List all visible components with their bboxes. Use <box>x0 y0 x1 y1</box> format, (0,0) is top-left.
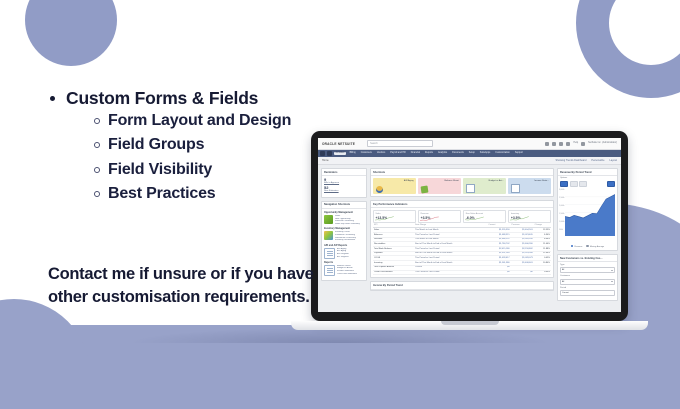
revenue-trend-title: Revenue By Period Trend <box>558 169 617 176</box>
y-tick-label: 2,000k <box>559 205 564 207</box>
kpi-card[interactable]: Inventory +3.5% <box>508 210 551 223</box>
shortcut-group-title[interactable]: Opportunity Management <box>324 211 364 214</box>
netsuite-nav-bar[interactable]: Activities Billing Customers Vendors Pay… <box>318 150 621 157</box>
bullet-sub-label: Best Practices <box>108 185 216 202</box>
shortcut-group: Opportunity Management Sales New Opportu… <box>324 211 364 225</box>
page-icon <box>511 184 520 193</box>
shortcut-group-row: Sales New Opportunity Forecast Processin… <box>324 215 364 225</box>
bullet-sub-label: Form Layout and Design <box>108 112 291 129</box>
kpi-body: Sales +13.5% Revenue +3.5% <box>371 208 553 277</box>
y-tick-label: 1,000k <box>559 221 564 223</box>
nav-tab-5[interactable]: Financial <box>409 152 421 155</box>
income-trend-portlet: Income By Period Trend <box>370 281 554 290</box>
shortcut-links: A/R Aging A/P Aging A/R Register A/P Reg… <box>337 248 349 258</box>
page-icon <box>466 184 475 193</box>
chart-type-area-button[interactable] <box>560 181 568 187</box>
chart-legend: Revenue Moving Average <box>558 244 617 250</box>
y-tick-label: 1,500k <box>559 213 564 215</box>
shortcut-cards-body: A/R Aging Balance Sheet Budget vs Act... <box>371 176 553 196</box>
kpi-table-body: SalesThis Month to Last Month$1,595,390$… <box>373 228 551 275</box>
bullet-sub-label: Field Visibility <box>108 161 212 178</box>
bullet-item-sub: Form Layout and Design <box>94 109 348 133</box>
global-search-input[interactable]: Search <box>367 140 433 147</box>
laptop-mockup: ORACLE NETSUITE Search Help NetSuite Inc… <box>311 131 648 330</box>
shortcut-group-row: Inventory Count Fulfilment Processing Wa… <box>324 231 364 241</box>
search-icon[interactable] <box>545 142 549 146</box>
shortcut-card-label: A/R Aging <box>404 180 414 183</box>
legend-entry-revenue: Revenue <box>571 245 583 248</box>
pencil-icon <box>420 185 428 193</box>
shortcut-link[interactable]: A/P Register <box>337 256 349 259</box>
kpi-card[interactable]: New Sales Account -6.0% <box>463 210 506 223</box>
kpi-portlet: Key Performance Indicators Sales +13.5% <box>370 200 554 278</box>
shortcut-card-income-statement[interactable]: Income State... <box>508 178 551 194</box>
laptop-base <box>291 321 648 330</box>
shortcut-cards: A/R Aging Balance Sheet Budget vs Act... <box>373 178 551 194</box>
table-row[interactable]: Credit Card BalanceThis Period vs Last P… <box>373 270 551 275</box>
y-tick-label: 2,500k <box>559 197 564 199</box>
dashboard-right-column: Revenue By Period Trend Options 3,000k 2… <box>557 168 618 301</box>
shortcut-card-budget-vs-actual[interactable]: Budget vs Act... <box>463 178 506 194</box>
laptop-screen: ORACLE NETSUITE Search Help NetSuite Inc… <box>318 138 621 312</box>
shortcut-link[interactable]: Inventory Revaluation <box>335 239 356 242</box>
shortcut-group-title[interactable]: Inventory Management <box>324 227 364 230</box>
shortcuts-portlet-title: Shortcuts <box>371 169 553 176</box>
multicolor-boxes-icon <box>324 231 333 240</box>
shortcut-group-title[interactable]: A/R and A/P Reports <box>324 244 364 247</box>
period-field[interactable]: Current <box>560 290 615 296</box>
dashboard-body: Reminders 9 Bills to Approve 52 New Esti… <box>318 165 621 312</box>
form-row: Type All <box>560 264 615 273</box>
nav-tab-7[interactable]: Analytics <box>436 152 448 155</box>
legend-entry-moving-average: Moving Average <box>586 245 604 248</box>
customers-select[interactable]: All <box>560 279 615 285</box>
decorative-ring-top-right <box>576 0 680 98</box>
decorative-ring-bottom-left <box>0 299 90 409</box>
bullet-list: Custom Forms & Fields Form Layout and De… <box>48 88 348 207</box>
decorative-band-bottom <box>0 325 680 409</box>
document-icon <box>324 248 335 259</box>
bullet-item-sub: Field Groups <box>94 133 348 157</box>
table-cell: Credit Card Balance <box>373 270 414 275</box>
bullet-item-primary: Custom Forms & Fields Form Layout and De… <box>48 88 348 207</box>
bell-icon[interactable] <box>552 142 556 146</box>
closing-paragraph: Contact me if unsure or if you have othe… <box>48 263 328 310</box>
nav-tab-9[interactable]: Setup <box>467 152 476 155</box>
nav-tab-10[interactable]: SuiteApps <box>478 152 491 155</box>
shortcut-card-label: Balance Sheet <box>445 180 459 183</box>
nav-tab-4[interactable]: Payroll and HR <box>389 152 407 155</box>
chart-type-line-button[interactable] <box>579 181 587 187</box>
shortcut-group: A/R and A/P Reports A/R Aging A/P Aging … <box>324 244 364 259</box>
chart-refresh-button[interactable] <box>607 181 615 187</box>
account-label[interactable]: NetSuite Inc. (Administrator) <box>588 142 617 145</box>
nav-tab-11[interactable]: Customization <box>494 152 512 155</box>
sparkline-icon <box>375 216 394 221</box>
user-icon[interactable] <box>581 142 585 146</box>
shortcut-card-label: Budget vs Act... <box>489 180 504 183</box>
shortcut-link[interactable]: Cash Flow Statement <box>337 273 357 276</box>
bullet-primary-label: Custom Forms & Fields <box>66 88 258 108</box>
sparkline-icon <box>510 216 529 221</box>
revenue-trend-portlet: Revenue By Period Trend Options 3,000k 2… <box>557 168 618 251</box>
dashboard-selector[interactable]: Showing Trends Dashboard <box>556 159 587 162</box>
sparkline-icon <box>420 216 439 221</box>
bullet-sub-label: Field Groups <box>108 136 204 153</box>
shortcut-group: Inventory Management Inventory Count Ful… <box>324 227 364 241</box>
revenue-area-chart <box>565 189 615 236</box>
dashboard-main-column: Shortcuts A/R Aging Balance Sheet <box>370 168 554 291</box>
new-customers-portlet: New Customers vs. Existing Cus... Type A… <box>557 254 618 301</box>
nav-tab-2[interactable]: Customers <box>359 152 373 155</box>
shortcut-card-label: Income State... <box>534 180 549 183</box>
shortcuts-portlet: Shortcuts A/R Aging Balance Sheet <box>370 168 554 197</box>
new-customers-body: Type All Customers All Period Current <box>558 262 617 299</box>
shortcut-links: Sales New Opportunity Forecast Processin… <box>335 215 360 225</box>
decorative-circle-top-left <box>25 0 117 66</box>
nav-tab-6[interactable]: Reports <box>423 152 434 155</box>
new-customers-title: New Customers vs. Existing Cus... <box>558 255 617 262</box>
shortcut-link[interactable]: Sales Rep Sales Summary <box>335 223 360 226</box>
field-label: Period <box>560 287 615 290</box>
revenue-chart: 3,000k 2,500k 2,000k 1,500k 1,000k 500k <box>558 189 617 244</box>
shortcut-group-row: A/R Aging A/P Aging A/R Register A/P Reg… <box>324 248 364 259</box>
nav-tab-12[interactable]: Support <box>513 152 524 155</box>
layout-link[interactable]: Layout <box>609 159 617 162</box>
table-cell: 0.00% <box>534 270 551 275</box>
bullet-item-sub: Field Visibility <box>94 158 348 182</box>
chart-type-bar-button[interactable] <box>570 181 578 187</box>
grid-icon[interactable] <box>566 142 570 146</box>
shortcut-group: Reports Balance Sheet Budget vs Actual I… <box>324 261 364 276</box>
kpi-card[interactable]: Revenue +3.5% <box>418 210 461 223</box>
bullet-list-block: Custom Forms & Fields Form Layout and De… <box>48 88 348 210</box>
topbar-icon-group: Help NetSuite Inc. (Administrator) <box>545 142 617 146</box>
help-label[interactable]: Help <box>573 142 578 145</box>
bullet-sublist: Form Layout and Design Field Groups Fiel… <box>66 109 348 207</box>
kpi-table: KPI Date Range Current Previous Change S… <box>373 223 551 275</box>
type-select[interactable]: All <box>560 267 615 273</box>
shortcut-group-title[interactable]: Reports <box>324 261 364 264</box>
form-row: Customers All <box>560 275 615 284</box>
person-icon <box>376 186 383 193</box>
table-cell: $0 <box>511 270 534 275</box>
shortcuts-body: Opportunity Management Sales New Opportu… <box>322 209 366 280</box>
field-label: Customers <box>560 275 615 278</box>
shortcut-card-balance-sheet[interactable]: Balance Sheet <box>418 178 461 194</box>
personalize-link[interactable]: Personalize <box>591 159 604 162</box>
netsuite-subbar: Home Showing Trends Dashboard Personaliz… <box>318 157 621 165</box>
shortcut-links: Inventory Count Fulfilment Processing Wa… <box>335 231 356 241</box>
chart-toolbar <box>558 180 617 189</box>
green-gear-icon <box>324 215 333 224</box>
slide-canvas: Custom Forms & Fields Form Layout and De… <box>0 0 680 409</box>
shortcut-links: Balance Sheet Budget vs Actual Income St… <box>337 265 357 275</box>
subbar-links: Showing Trends Dashboard Personalize Lay… <box>556 159 617 162</box>
y-tick-label: 3,000k <box>559 189 564 191</box>
income-trend-title: Income By Period Trend <box>371 282 553 289</box>
shortcut-group-row: Balance Sheet Budget vs Actual Income St… <box>324 265 364 276</box>
sparkline-icon <box>465 216 484 221</box>
form-row: Period Current <box>560 287 615 296</box>
y-tick-label: 500k <box>559 229 563 231</box>
nav-tab-3[interactable]: Vendors <box>375 152 386 155</box>
kpi-cards: Sales +13.5% Revenue +3.5% <box>373 210 551 223</box>
nav-tab-1[interactable]: Billing <box>348 152 357 155</box>
netsuite-topbar: ORACLE NETSUITE Search Help NetSuite Inc… <box>318 138 621 150</box>
shortcut-card-ar-aging[interactable]: A/R Aging <box>373 178 416 194</box>
nav-tab-8[interactable]: Documents <box>451 152 466 155</box>
laptop-lid: ORACLE NETSUITE Search Help NetSuite Inc… <box>311 131 628 321</box>
gear-icon[interactable] <box>559 142 563 146</box>
kpi-card[interactable]: Sales +13.5% <box>373 210 416 223</box>
kpi-portlet-title: Key Performance Indicators <box>371 201 553 208</box>
table-cell: This Period vs Last Period <box>414 270 487 275</box>
bullet-item-sub: Best Practices <box>94 182 348 206</box>
table-cell: $0 <box>487 270 510 275</box>
